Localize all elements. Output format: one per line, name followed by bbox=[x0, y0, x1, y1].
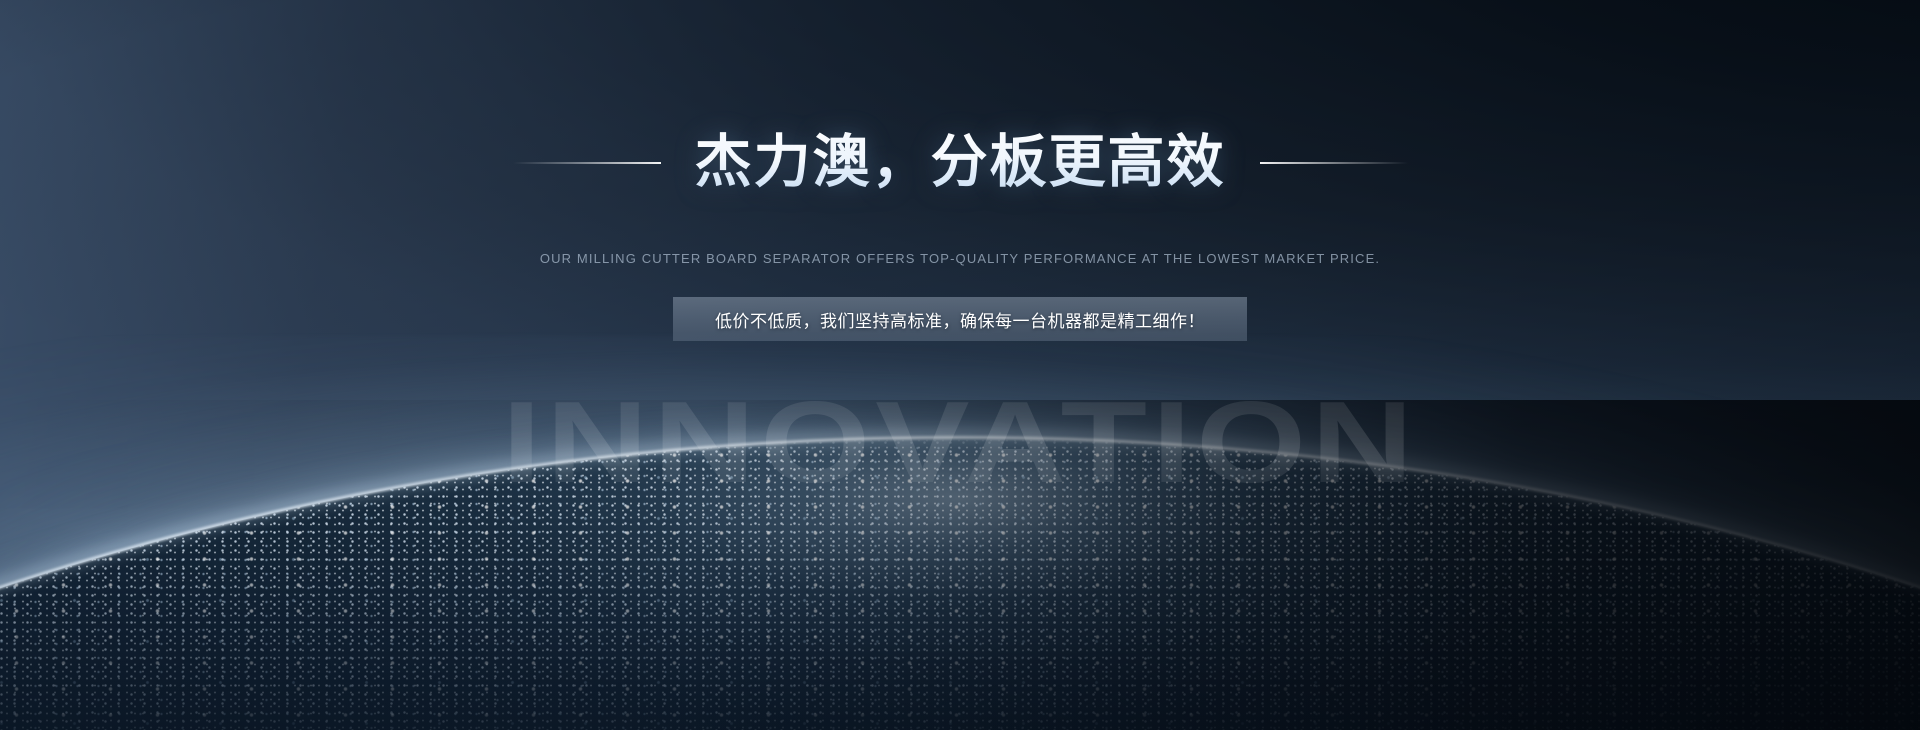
hero-strapline-banner: 低价不低质，我们坚持高标准，确保每一台机器都是精工细作！ bbox=[673, 297, 1247, 341]
watermark-text: INNOVATION bbox=[0, 384, 1920, 500]
page-title: 杰力澳，分板更高效 bbox=[695, 132, 1226, 194]
hero-subtitle: OUR MILLING CUTTER BOARD SEPARATOR OFFER… bbox=[0, 249, 1920, 269]
headline-rule-right bbox=[1260, 162, 1408, 164]
hero-content: INNOVATION 杰力澳，分板更高效 OUR MILLING CUTTER … bbox=[0, 0, 1920, 730]
headline-rule-left bbox=[513, 162, 661, 164]
headline-row: 杰力澳，分板更高效 bbox=[0, 132, 1920, 194]
hero-banner: INNOVATION 杰力澳，分板更高效 OUR MILLING CUTTER … bbox=[0, 0, 1920, 730]
strapline-wrap: 低价不低质，我们坚持高标准，确保每一台机器都是精工细作！ bbox=[0, 297, 1920, 341]
